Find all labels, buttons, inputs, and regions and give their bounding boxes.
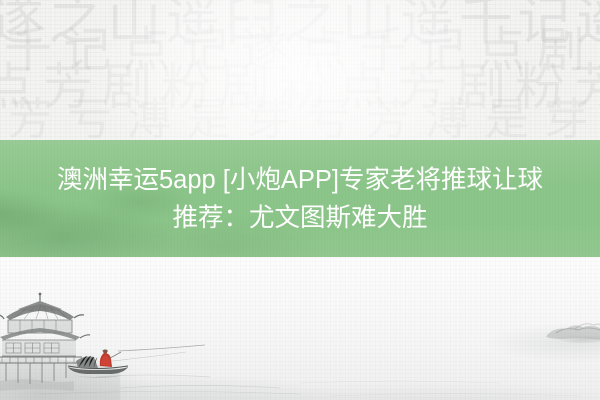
page-title: 澳洲幸运5app [小炮APP]专家老将推球让球 推荐：尤文图斯难大胜: [0, 140, 600, 257]
calligraphy-texture-band: 遂 之 山 遥 臼 之 山 遥 千 记 遥 千 记 点 记 遂 点 千 记: [0, 0, 600, 141]
fishing-line: [118, 345, 205, 351]
ink-wash-landscape: [0, 257, 600, 400]
title-line-2: 推荐：尤文图斯难大胜: [172, 200, 427, 236]
green-title-banner: 澳洲幸运5app [小炮APP]专家老将推球让球 推荐：尤文图斯难大胜: [0, 140, 600, 257]
banner-image: 遂 之 山 遥 臼 之 山 遥 千 记 遥 千 记 点 记 遂 点 千 记: [0, 0, 600, 400]
boat-wake: [112, 352, 186, 361]
title-line-1: 澳洲幸运5app [小炮APP]专家老将推球让球: [57, 162, 543, 198]
distant-rocks: [546, 324, 600, 343]
calligraphy-glyph: 芳: [8, 98, 52, 141]
boatman: [100, 350, 121, 368]
landscape-drawing: [0, 257, 600, 400]
calligraphy-glyph: 芽: [544, 98, 588, 141]
water: [40, 375, 580, 396]
paper-highlight: [90, 0, 510, 141]
